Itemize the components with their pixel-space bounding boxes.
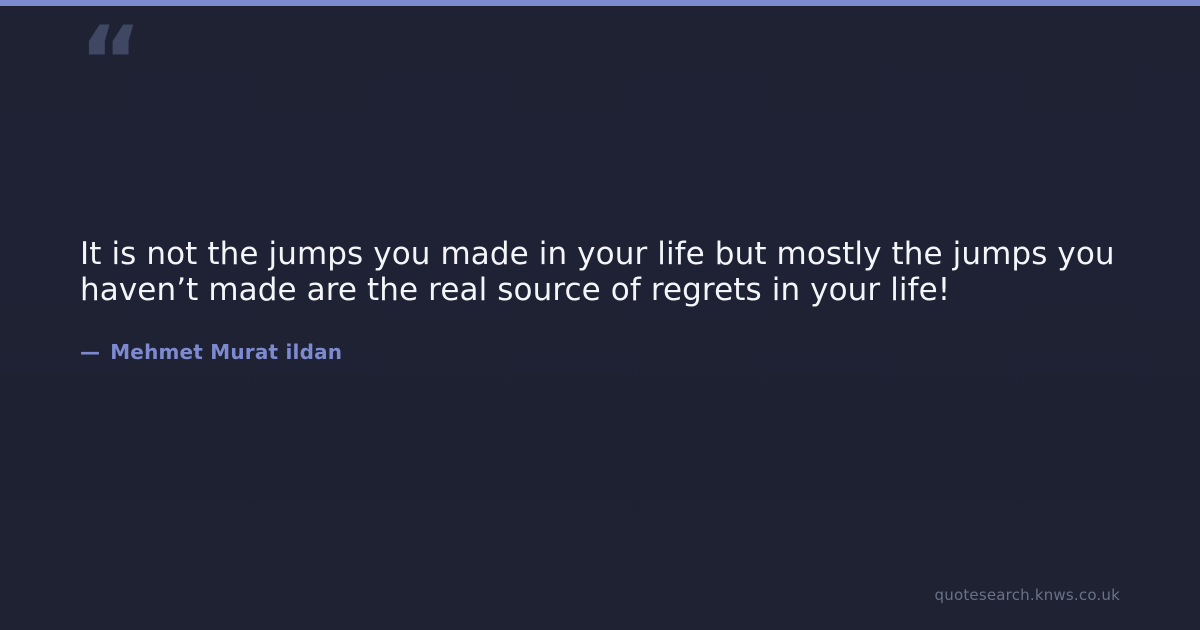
site-watermark: quotesearch.knws.co.uk	[935, 586, 1120, 604]
quote-content: It is not the jumps you made in your lif…	[80, 236, 1120, 365]
open-quote-icon: “	[79, 14, 140, 110]
quote-attribution: — Mehmet Murat ildan	[80, 308, 1120, 365]
author-name: Mehmet Murat ildan	[110, 339, 342, 365]
attribution-dash: —	[80, 339, 100, 365]
quote-card: “ It is not the jumps you made in your l…	[0, 0, 1200, 630]
quote-text: It is not the jumps you made in your lif…	[80, 236, 1120, 308]
top-accent-bar	[0, 0, 1200, 6]
